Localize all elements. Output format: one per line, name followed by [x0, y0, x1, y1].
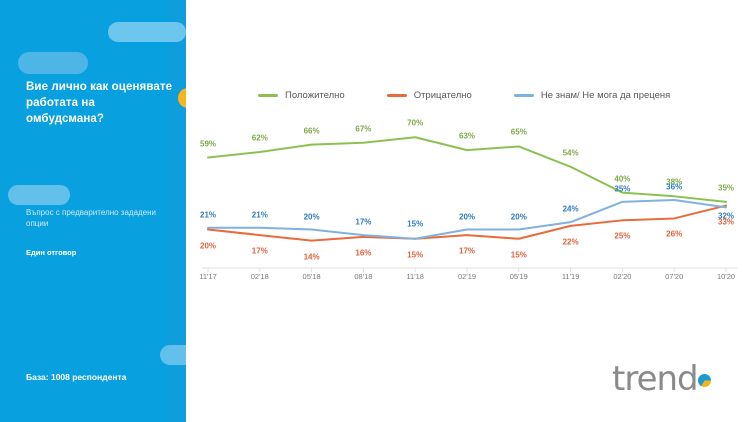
x-tick-label: 05'19	[510, 272, 528, 281]
slide-root: Вие лично как оценявате работата на омбу…	[0, 0, 750, 422]
data-label: 17%	[355, 218, 371, 227]
x-tick-label: 05'18	[303, 272, 321, 281]
decorative-pill-top	[108, 22, 186, 42]
data-label: 25%	[614, 232, 630, 241]
data-label: 15%	[511, 250, 527, 259]
data-label: 26%	[666, 230, 682, 239]
trend-logo: trend	[612, 358, 736, 400]
data-label: 35%	[614, 184, 630, 193]
data-label: 21%	[252, 210, 268, 219]
data-label: 65%	[511, 128, 527, 137]
data-label: 20%	[459, 212, 475, 221]
data-label: 62%	[252, 134, 268, 143]
x-tick-label: 02'18	[251, 272, 269, 281]
sample-base-note: База: 1008 респондента	[26, 372, 186, 382]
x-tick-label: 02'20	[613, 272, 631, 281]
logo-wordmark: trend	[612, 358, 736, 400]
data-label: 54%	[563, 148, 579, 157]
data-label: 70%	[407, 119, 423, 128]
data-label: 20%	[304, 212, 320, 221]
data-label: 15%	[407, 250, 423, 259]
data-label: 32%	[718, 212, 734, 221]
answer-mode-note: Един отговор	[26, 248, 176, 257]
data-label: 17%	[459, 247, 475, 256]
question-type-note: Въпрос с предварително зададени опции	[26, 207, 176, 229]
x-tick-label: 10'20	[717, 272, 735, 281]
data-label: 35%	[718, 183, 734, 192]
data-label: 40%	[614, 174, 630, 183]
x-tick-label: 07'20	[665, 272, 683, 281]
series-line-1[interactable]	[208, 137, 726, 202]
x-tick-label: 11'19	[562, 272, 580, 281]
decorative-pill-upper-left	[18, 52, 88, 74]
decorative-pill-mid-left	[8, 185, 70, 205]
x-tick-label: 08'18	[354, 272, 372, 281]
x-axis-tick-labels: 11'1702'1805'1808'1811'1802'1905'1911'19…	[186, 272, 750, 288]
data-label: 36%	[666, 183, 682, 192]
data-label: 17%	[252, 247, 268, 256]
x-tick-label: 11'18	[406, 272, 424, 281]
data-label: 20%	[200, 241, 216, 250]
data-label: 16%	[355, 248, 371, 257]
x-tick-label: 11'17	[199, 272, 217, 281]
data-label: 14%	[304, 252, 320, 261]
page-title: Вие лично как оценявате работата на омбу…	[26, 79, 176, 127]
data-label: 66%	[304, 126, 320, 135]
data-label: 59%	[200, 139, 216, 148]
data-label: 21%	[200, 210, 216, 219]
data-label: 22%	[563, 237, 579, 246]
data-label: 15%	[407, 219, 423, 228]
x-tick-label: 02'19	[458, 272, 476, 281]
series-line-2[interactable]	[208, 206, 726, 241]
data-label: 67%	[355, 124, 371, 133]
pie-chart-icon	[698, 374, 711, 387]
data-label: 24%	[563, 205, 579, 214]
data-label: 63%	[459, 132, 475, 141]
data-label: 20%	[511, 212, 527, 221]
